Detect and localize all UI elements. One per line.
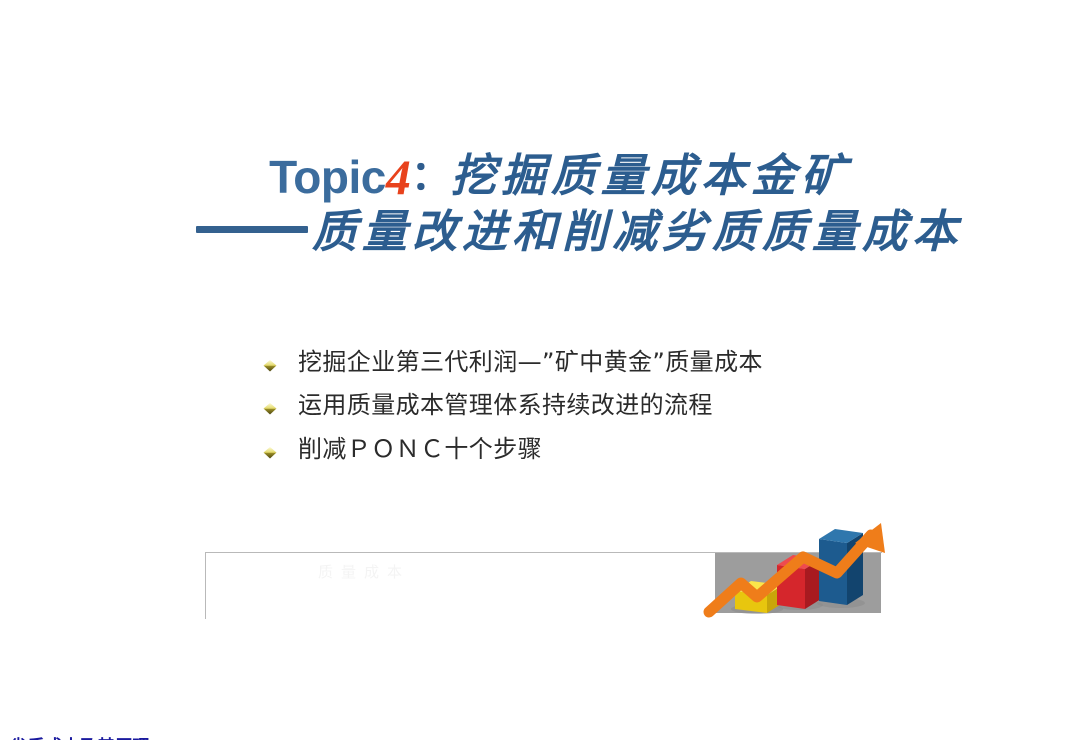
slide-title: Topic4：挖掘质量成本金矿 质量改进和削减劣质质量成本 xyxy=(0,152,1080,255)
growth-arrow xyxy=(709,523,885,612)
title-line-1: Topic4：挖掘质量成本金矿 xyxy=(0,152,1080,203)
red-bar xyxy=(777,555,821,609)
title-line-2-chinese: 质量改进和削减劣质质量成本 xyxy=(312,205,962,258)
list-item[interactable]: 削减ＰＯＮＣ十个步骤 xyxy=(262,435,962,463)
content-placeholder-ghost-text: 质量成本 xyxy=(318,561,410,582)
list-item[interactable]: 挖掘企业第三代利润—”矿中黄金”质量成本 xyxy=(262,348,962,376)
list-item-label: 挖掘企业第三代利润—”矿中黄金”质量成本 xyxy=(298,348,763,376)
title-colon: ： xyxy=(411,153,451,199)
title-topic-number: 4 xyxy=(386,149,411,205)
blue-bar xyxy=(819,529,863,605)
title-topic-word: Topic xyxy=(269,151,386,203)
title-line-1-chinese: 挖掘质量成本金矿 xyxy=(451,149,851,202)
bullet-list: 挖掘企业第三代利润—”矿中黄金”质量成本 运用质量成本管理体系持续改进的流程 削… xyxy=(262,348,962,478)
yellow-bar xyxy=(735,581,783,613)
diamond-arrow-bullet-icon xyxy=(262,358,278,374)
slide-canvas: Topic4：挖掘质量成本金矿 质量改进和削减劣质质量成本 xyxy=(0,0,1080,740)
diamond-arrow-bullet-icon xyxy=(262,401,278,417)
list-item-label: 运用质量成本管理体系持续改进的流程 xyxy=(298,391,713,419)
list-item[interactable]: 运用质量成本管理体系持续改进的流程 xyxy=(262,391,962,419)
title-em-dash-rule xyxy=(196,226,308,233)
list-item-label: 削减ＰＯＮＣ十个步骤 xyxy=(298,435,542,463)
3d-bar-chart-growth-arrow-image xyxy=(715,553,881,613)
diamond-arrow-bullet-icon xyxy=(262,445,278,461)
title-line-2: 质量改进和削减劣质质量成本 xyxy=(0,209,1080,255)
footer-text: 劣质成本及其原理 xyxy=(10,732,150,740)
